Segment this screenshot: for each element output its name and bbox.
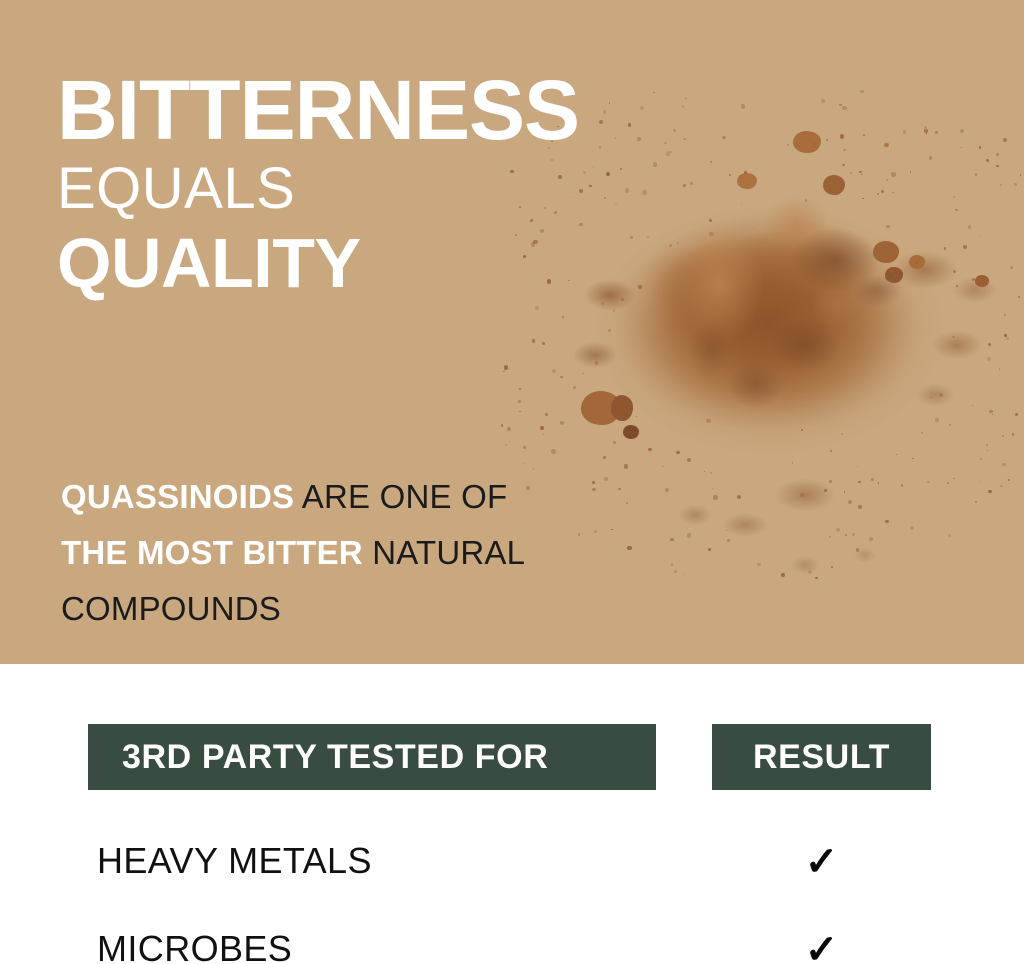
powder-speck bbox=[710, 472, 712, 474]
powder-speck bbox=[562, 316, 564, 318]
powder-speck bbox=[1006, 337, 1009, 340]
powder-clump bbox=[623, 425, 639, 439]
powder-speck bbox=[996, 165, 999, 168]
powder-speck bbox=[885, 520, 889, 524]
powder-speck bbox=[910, 526, 914, 530]
powder-speck bbox=[710, 161, 712, 163]
powder-speck bbox=[504, 365, 509, 370]
powder-speck bbox=[961, 147, 962, 148]
powder-speck bbox=[552, 369, 557, 374]
powder-speck bbox=[863, 134, 865, 136]
powder-speck bbox=[523, 463, 524, 464]
powder-speck bbox=[955, 209, 958, 212]
powder-speck bbox=[999, 368, 1001, 370]
powder-speck bbox=[858, 505, 862, 509]
powder-speck bbox=[939, 393, 943, 397]
powder-speck bbox=[881, 190, 884, 193]
powder-speck bbox=[810, 568, 811, 569]
powder-speck bbox=[960, 129, 964, 133]
powder-speck bbox=[910, 171, 912, 173]
powder-speck bbox=[1004, 334, 1007, 337]
powder-speck bbox=[871, 478, 874, 481]
powder-speck bbox=[685, 98, 687, 100]
powder-speck bbox=[859, 171, 862, 174]
headline-line-quality: QUALITY bbox=[57, 228, 677, 298]
powder-speck bbox=[594, 530, 597, 533]
powder-speck bbox=[808, 570, 812, 574]
powder-speck bbox=[944, 247, 947, 250]
powder-clump bbox=[975, 275, 989, 287]
table-header-result: RESULT bbox=[712, 724, 931, 790]
powder-speck bbox=[979, 481, 980, 482]
powder-speck bbox=[592, 488, 596, 492]
powder-speck bbox=[1002, 435, 1005, 438]
hero-panel: BITTERNESS EQUALS QUALITY QUASSINOIDS AR… bbox=[0, 0, 1024, 664]
powder-clump bbox=[793, 131, 821, 153]
powder-speck bbox=[744, 171, 747, 174]
powder-speck bbox=[801, 429, 803, 431]
headline-line-bitterness: BITTERNESS bbox=[57, 72, 677, 149]
powder-speck bbox=[1000, 485, 1003, 488]
infographic-canvas: BITTERNESS EQUALS QUALITY QUASSINOIDS AR… bbox=[0, 0, 1024, 964]
powder-speck bbox=[815, 577, 817, 579]
headline-line-equals: EQUALS bbox=[57, 157, 677, 222]
powder-speck bbox=[551, 449, 556, 454]
powder-speck bbox=[927, 481, 930, 484]
powder-speck bbox=[706, 419, 711, 424]
powder-speck bbox=[992, 414, 993, 415]
powder-speck bbox=[953, 478, 954, 479]
powder-speck bbox=[519, 411, 520, 412]
powder-speck bbox=[519, 388, 521, 390]
powder-speck bbox=[722, 136, 725, 139]
powder-clump bbox=[611, 395, 633, 421]
powder-speck bbox=[752, 227, 753, 228]
powder-speck bbox=[1012, 433, 1015, 436]
powder-speck bbox=[856, 548, 860, 552]
powder-clump bbox=[909, 255, 925, 269]
powder-speck bbox=[613, 441, 616, 444]
powder-speck bbox=[813, 143, 815, 145]
powder-speck bbox=[1008, 479, 1010, 481]
powder-speck bbox=[979, 146, 982, 149]
hero-headline: BITTERNESS EQUALS QUALITY bbox=[57, 72, 677, 298]
powder-speck bbox=[924, 126, 927, 129]
powder-speck bbox=[886, 179, 888, 181]
powder-speck bbox=[926, 133, 928, 135]
table-header-result-label: RESULT bbox=[753, 738, 890, 777]
powder-speck bbox=[713, 495, 718, 500]
powder-speck bbox=[878, 482, 879, 483]
powder-speck bbox=[613, 309, 616, 312]
powder-speck bbox=[709, 232, 713, 236]
powder-speck bbox=[968, 225, 971, 228]
powder-speck bbox=[503, 371, 505, 373]
powder-speck bbox=[677, 242, 679, 244]
powder-speck bbox=[844, 491, 846, 493]
powder-clump bbox=[581, 391, 621, 425]
powder-speck bbox=[671, 563, 674, 566]
powder-speck bbox=[535, 306, 539, 310]
powder-speck bbox=[988, 343, 991, 346]
powder-speck bbox=[972, 405, 973, 406]
powder-speck bbox=[687, 533, 691, 537]
powder-speck bbox=[800, 493, 804, 497]
powder-speck bbox=[839, 104, 842, 107]
powder-speck bbox=[952, 336, 955, 339]
subcopy-emphasis-most-bitter: THE MOST BITTER bbox=[61, 534, 363, 571]
powder-speck bbox=[836, 528, 840, 532]
powder-speck bbox=[505, 444, 507, 446]
powder-speck bbox=[595, 361, 599, 365]
powder-speck bbox=[704, 471, 705, 472]
powder-speck bbox=[824, 489, 827, 492]
powder-speck bbox=[901, 484, 904, 487]
powder-speck bbox=[862, 198, 864, 200]
powder-speck bbox=[890, 269, 894, 273]
powder-speck bbox=[996, 153, 999, 156]
powder-speck bbox=[877, 193, 879, 195]
powder-speck bbox=[739, 175, 740, 176]
powder-speck bbox=[1018, 296, 1020, 298]
powder-speck bbox=[947, 482, 949, 484]
powder-speck bbox=[648, 448, 651, 451]
powder-speck bbox=[626, 502, 628, 504]
powder-speck bbox=[618, 488, 621, 491]
powder-speck bbox=[727, 539, 730, 542]
powder-speck bbox=[842, 164, 844, 166]
powder-speck bbox=[921, 432, 923, 434]
powder-speck bbox=[869, 537, 873, 541]
powder-speck bbox=[631, 398, 632, 399]
powder-speck bbox=[821, 99, 825, 103]
powder-speck bbox=[850, 172, 852, 174]
powder-speck bbox=[603, 456, 607, 460]
powder-speck bbox=[540, 426, 544, 430]
powder-speck bbox=[975, 173, 977, 175]
powder-speck bbox=[670, 538, 674, 542]
powder-speck bbox=[683, 138, 685, 140]
powder-speck bbox=[935, 131, 938, 134]
powder-speck bbox=[741, 104, 745, 108]
powder-speck bbox=[573, 386, 576, 389]
powder-speck bbox=[683, 184, 686, 187]
powder-speck bbox=[857, 466, 858, 467]
powder-speck bbox=[1015, 413, 1018, 416]
powder-speck bbox=[986, 159, 989, 162]
hero-subcopy: QUASSINOIDS ARE ONE OF THE MOST BITTER N… bbox=[61, 469, 581, 637]
powder-speck bbox=[980, 458, 982, 460]
powder-speck bbox=[684, 574, 685, 575]
powder-speck bbox=[891, 172, 895, 176]
powder-speck bbox=[964, 233, 965, 234]
powder-clump bbox=[737, 173, 757, 189]
powder-speck bbox=[729, 174, 731, 176]
powder-speck bbox=[542, 342, 545, 345]
powder-speck bbox=[840, 134, 844, 138]
powder-speck bbox=[949, 424, 951, 426]
powder-speck bbox=[826, 139, 828, 141]
powder-speck bbox=[987, 450, 988, 451]
powder-speck bbox=[509, 441, 511, 443]
powder-speck bbox=[545, 413, 548, 416]
subcopy-text-are-one-of: ARE ONE OF bbox=[294, 478, 507, 515]
powder-speck bbox=[860, 90, 864, 94]
powder-speck bbox=[708, 548, 711, 551]
powder-speck bbox=[979, 235, 981, 237]
powder-speck bbox=[1003, 138, 1008, 143]
powder-speck bbox=[893, 274, 898, 279]
powder-speck bbox=[1004, 314, 1006, 316]
powder-speck bbox=[624, 464, 629, 469]
powder-speck bbox=[712, 488, 714, 490]
powder-speck bbox=[845, 534, 847, 536]
powder-speck bbox=[986, 444, 989, 447]
powder-speck bbox=[781, 573, 785, 577]
powder-speck bbox=[861, 174, 863, 176]
check-icon: ✓ bbox=[712, 842, 931, 882]
powder-speck bbox=[953, 196, 955, 198]
powder-speck bbox=[843, 149, 846, 152]
powder-speck bbox=[601, 302, 604, 305]
powder-clump bbox=[873, 241, 899, 263]
powder-speck bbox=[507, 427, 511, 431]
powder-speck bbox=[1014, 183, 1017, 186]
powder-speck bbox=[560, 376, 563, 379]
powder-speck bbox=[972, 278, 975, 281]
powder-speck bbox=[924, 129, 928, 133]
powder-speck bbox=[842, 106, 846, 110]
subcopy-emphasis-quassinoids: QUASSINOIDS bbox=[61, 478, 294, 515]
powder-speck bbox=[737, 495, 741, 499]
powder-speck bbox=[582, 373, 583, 374]
powder-speck bbox=[682, 106, 684, 108]
powder-speck bbox=[896, 454, 897, 455]
powder-speck bbox=[805, 199, 808, 202]
table-header-tested-for: 3RD PARTY TESTED FOR bbox=[88, 724, 656, 790]
powder-clump bbox=[823, 175, 845, 195]
powder-speck bbox=[741, 203, 742, 204]
powder-speck bbox=[956, 285, 959, 288]
powder-speck bbox=[726, 530, 727, 531]
powder-speck bbox=[709, 219, 712, 222]
powder-speck bbox=[852, 533, 855, 536]
powder-speck bbox=[884, 143, 889, 148]
powder-speck bbox=[1000, 184, 1003, 187]
powder-speck bbox=[605, 405, 606, 406]
powder-speck bbox=[608, 329, 611, 332]
powder-speck bbox=[829, 536, 831, 538]
powder-speck bbox=[523, 446, 526, 449]
powder-speck bbox=[892, 192, 894, 194]
powder-speck bbox=[543, 434, 544, 435]
powder-speck bbox=[532, 339, 535, 342]
table-row-label: MICROBES bbox=[88, 928, 292, 964]
powder-speck bbox=[621, 298, 624, 301]
powder-speck bbox=[886, 225, 890, 229]
powder-speck bbox=[501, 424, 503, 426]
powder-speck bbox=[858, 481, 861, 484]
powder-speck bbox=[830, 450, 832, 452]
powder-speck bbox=[665, 488, 669, 492]
powder-speck bbox=[636, 416, 637, 417]
powder-speck bbox=[935, 418, 939, 422]
powder-speck bbox=[1010, 266, 1013, 269]
powder-speck bbox=[792, 462, 794, 464]
powder-speck bbox=[662, 466, 663, 467]
powder-speck bbox=[604, 477, 608, 481]
table-row-label: HEAVY METALS bbox=[88, 840, 372, 882]
powder-speck bbox=[687, 458, 691, 462]
powder-speck bbox=[1020, 174, 1022, 176]
powder-speck bbox=[930, 397, 932, 399]
powder-speck bbox=[560, 421, 564, 425]
powder-speck bbox=[592, 481, 595, 484]
powder-speck bbox=[690, 182, 693, 185]
powder-speck bbox=[953, 270, 956, 273]
powder-speck bbox=[611, 529, 613, 531]
powder-speck bbox=[912, 458, 914, 460]
check-icon: ✓ bbox=[712, 930, 931, 964]
powder-speck bbox=[848, 500, 852, 504]
powder-speck bbox=[903, 130, 907, 134]
powder-speck bbox=[676, 451, 679, 454]
powder-speck bbox=[841, 433, 844, 436]
powder-speck bbox=[674, 570, 677, 573]
powder-speck bbox=[518, 400, 522, 404]
powder-speck bbox=[1002, 463, 1006, 467]
powder-speck bbox=[975, 501, 978, 504]
powder-clump bbox=[885, 267, 903, 283]
powder-speck bbox=[987, 357, 991, 361]
powder-speck bbox=[829, 480, 832, 483]
powder-speck bbox=[757, 563, 761, 567]
powder-speck bbox=[963, 245, 967, 249]
powder-speck bbox=[916, 262, 918, 264]
powder-speck bbox=[929, 156, 933, 160]
table-header-tested-for-label: 3RD PARTY TESTED FOR bbox=[122, 738, 548, 777]
powder-speck bbox=[948, 534, 951, 537]
powder-speck bbox=[988, 490, 991, 493]
powder-speck bbox=[831, 566, 833, 568]
powder-speck bbox=[989, 410, 993, 414]
powder-speck bbox=[627, 546, 632, 551]
powder-speck bbox=[787, 144, 789, 146]
